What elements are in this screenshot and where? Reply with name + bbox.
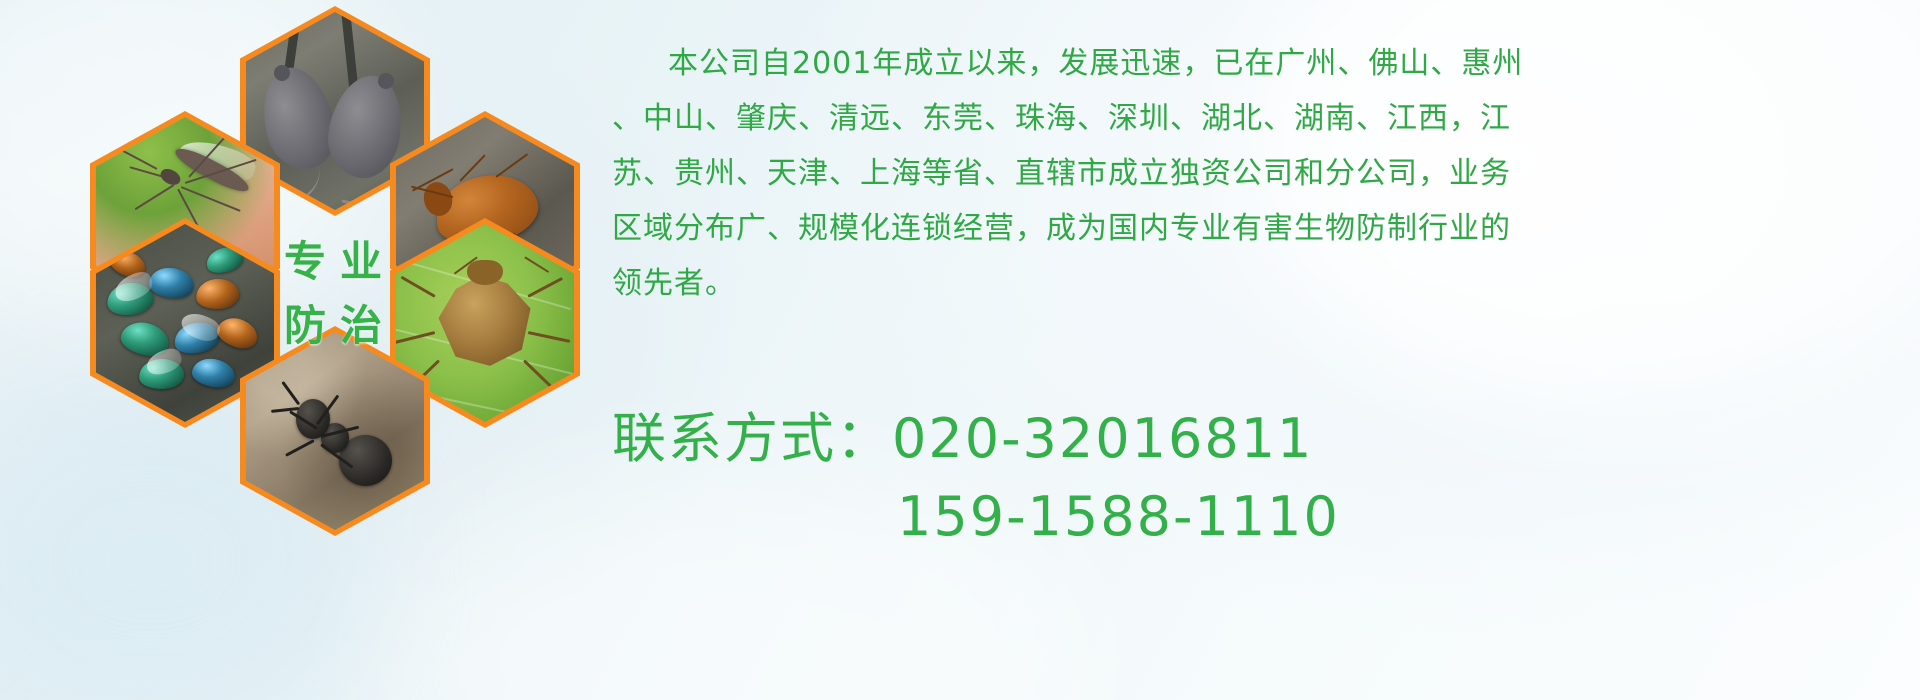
- badge-line-2: 防治: [270, 305, 396, 347]
- contact-secondary-line[interactable]: 159-1588-1110: [612, 478, 1892, 556]
- banner-canvas: 专业 防治 本公司自2001年成立以来，发展迅速，已在广州、佛山、惠州 、中山、…: [0, 0, 1920, 700]
- about-line-4: 区域分布广、规模化连锁经营，成为国内专业有害生物防制行业的: [612, 201, 1882, 256]
- contact-primary-line[interactable]: 联系方式：020-32016811: [612, 400, 1892, 478]
- about-line-3: 苏、贵州、天津、上海等省、直辖市成立独资公司和分公司，业务: [612, 146, 1882, 201]
- about-line-1: 本公司自2001年成立以来，发展迅速，已在广州、佛山、惠州: [612, 36, 1882, 91]
- about-paragraph: 本公司自2001年成立以来，发展迅速，已在广州、佛山、惠州 、中山、肇庆、清远、…: [612, 36, 1882, 311]
- about-line-5: 领先者。: [612, 256, 1882, 311]
- hex-image-cluster: 专业 防治: [90, 6, 590, 566]
- badge-line-1: 专业: [270, 241, 396, 283]
- about-line-2: 、中山、肇庆、清远、东莞、珠海、深圳、湖北、湖南、江西，江: [612, 91, 1882, 146]
- badge-text-group: 专业 防治: [238, 194, 428, 394]
- about-line-1-text: 本公司自2001年成立以来，发展迅速，已在广州、佛山、惠州: [668, 46, 1523, 81]
- contact-block: 联系方式：020-32016811 159-1588-1110: [612, 400, 1892, 556]
